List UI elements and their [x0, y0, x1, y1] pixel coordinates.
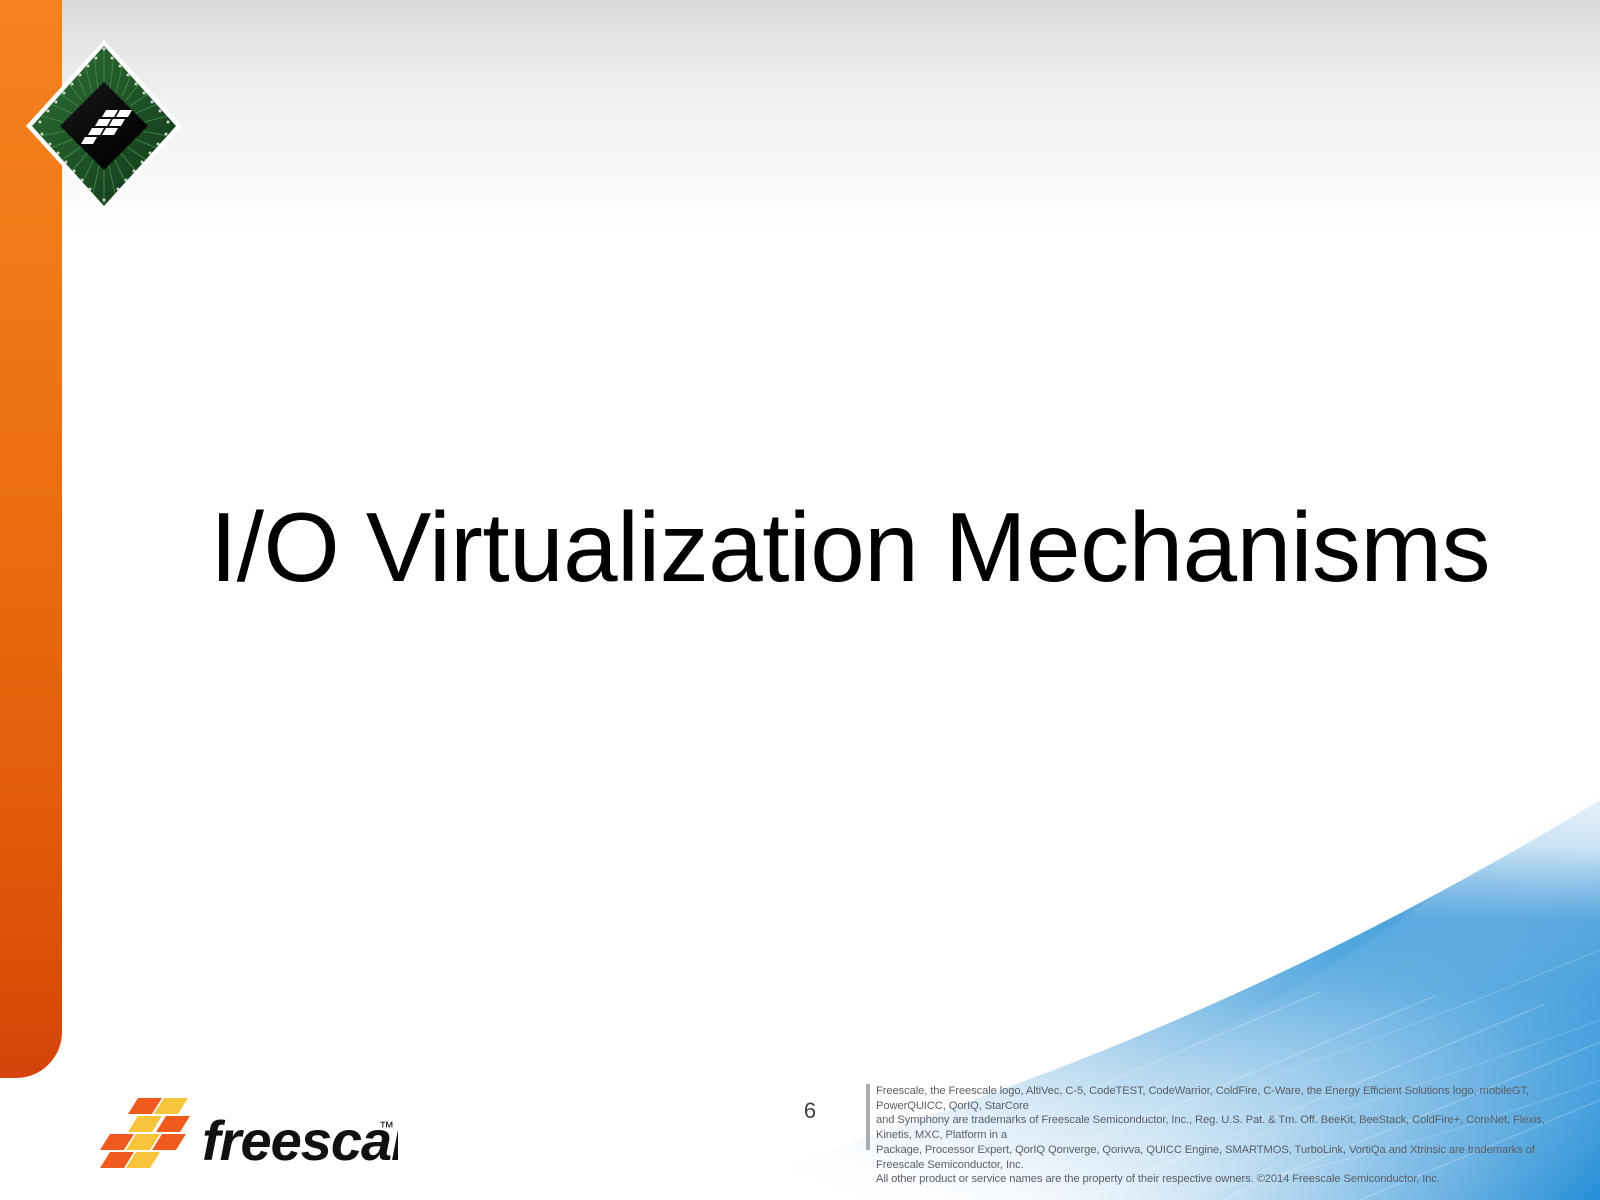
- legal-line-2: and Symphony are trademarks of Freescale…: [876, 1113, 1566, 1142]
- legal-trademark-block: Freescale, the Freescale logo, AltiVec, …: [876, 1084, 1566, 1187]
- slide-number: 6: [780, 1098, 840, 1124]
- legal-line-4: All other product or service names are t…: [876, 1172, 1566, 1187]
- legal-divider-rule: [866, 1084, 870, 1150]
- svg-text:freescale: freescale: [202, 1109, 398, 1172]
- svg-text:™: ™: [379, 1119, 394, 1136]
- freescale-wordmark-icon: freescale ™: [98, 1076, 398, 1176]
- legal-line-1: Freescale, the Freescale logo, AltiVec, …: [876, 1084, 1566, 1113]
- header-gradient-band: [0, 0, 1600, 232]
- slide-canvas: I/O Virtualization Mechanisms freescale: [0, 0, 1600, 1200]
- slide-title: I/O Virtualization Mechanisms: [150, 496, 1550, 600]
- freescale-chip-diamond-icon: [24, 38, 184, 214]
- legal-line-3: Package, Processor Expert, QorIQ Qonverg…: [876, 1143, 1566, 1172]
